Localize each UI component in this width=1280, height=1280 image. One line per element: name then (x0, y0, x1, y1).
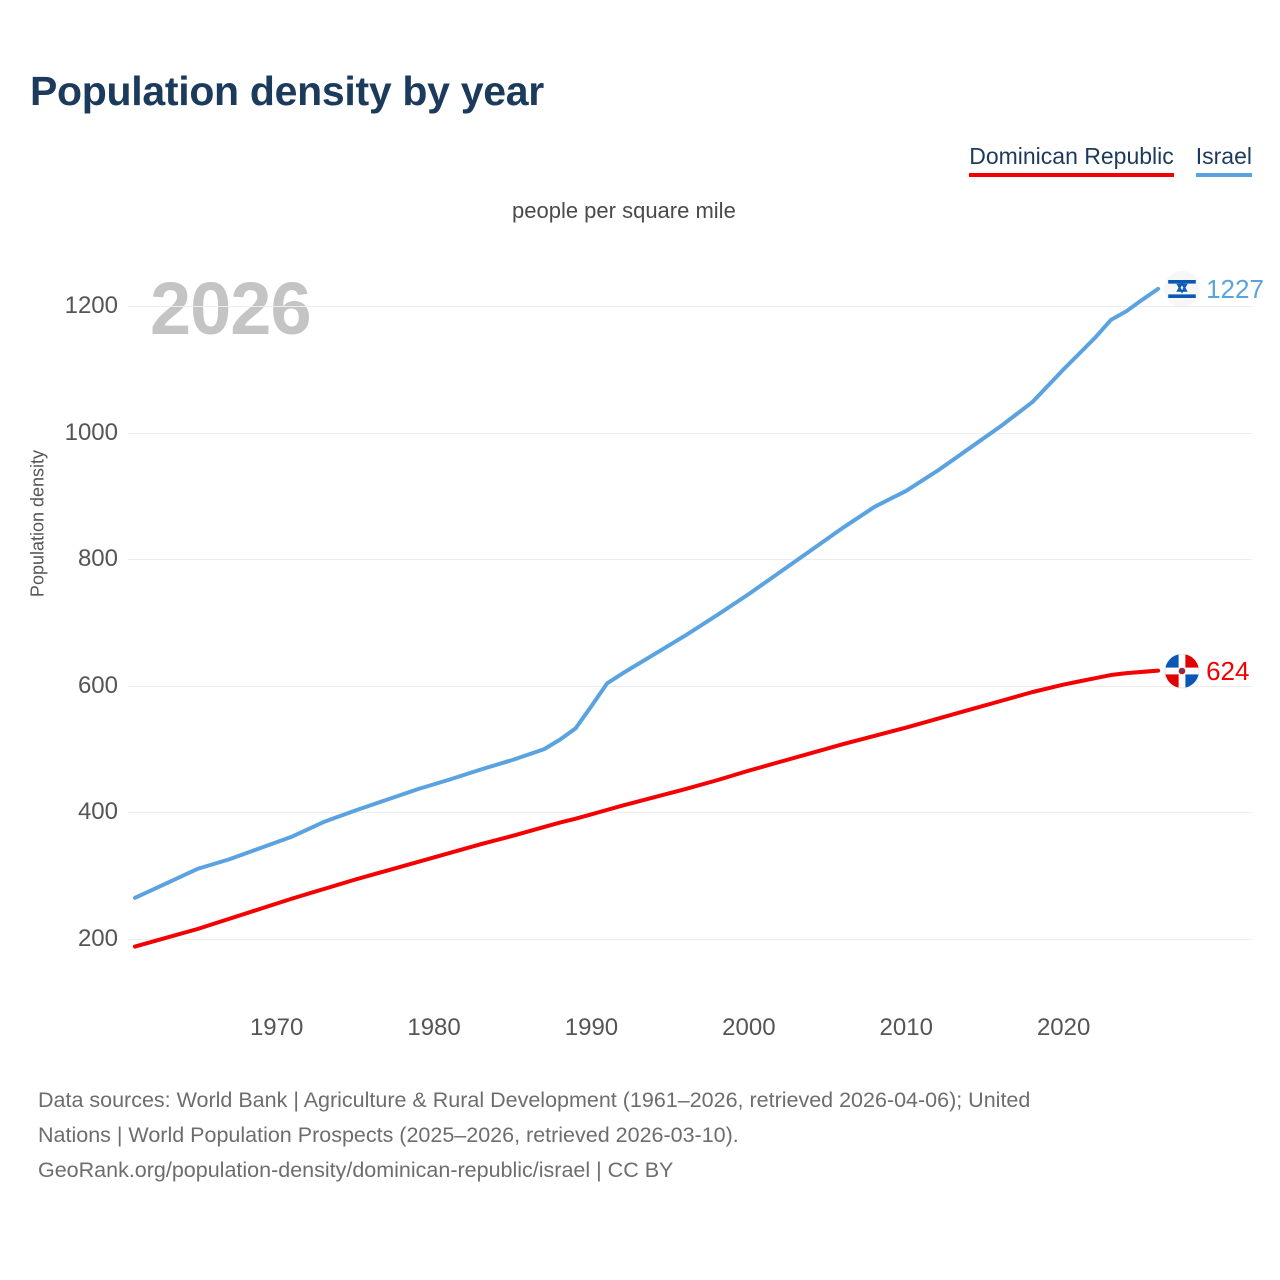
israel-endpoint: 1227 (1165, 272, 1264, 306)
israel-endpoint-value: 1227 (1206, 276, 1264, 302)
footer-attribution: Data sources: World Bank | Agriculture &… (38, 1083, 1253, 1187)
chart-page: Population density by year Dominican Rep… (0, 0, 1280, 1280)
footer-line-2: Nations | World Population Prospects (20… (38, 1118, 1253, 1153)
series-line-israel (135, 289, 1158, 898)
israel-flag-icon (1165, 272, 1199, 306)
dominican-republic-endpoint-value: 624 (1206, 658, 1249, 684)
dominican-republic-endpoint: 624 (1165, 654, 1249, 688)
series-lines (0, 0, 1280, 1070)
dominican-republic-flag-icon (1165, 654, 1199, 688)
footer-line-1: Data sources: World Bank | Agriculture &… (38, 1083, 1253, 1118)
footer-line-3: GeoRank.org/population-density/dominican… (38, 1153, 1253, 1188)
series-line-dominican-republic (135, 671, 1158, 947)
plot-area: 20040060080010001200 1970198019902000201… (0, 0, 1280, 1070)
